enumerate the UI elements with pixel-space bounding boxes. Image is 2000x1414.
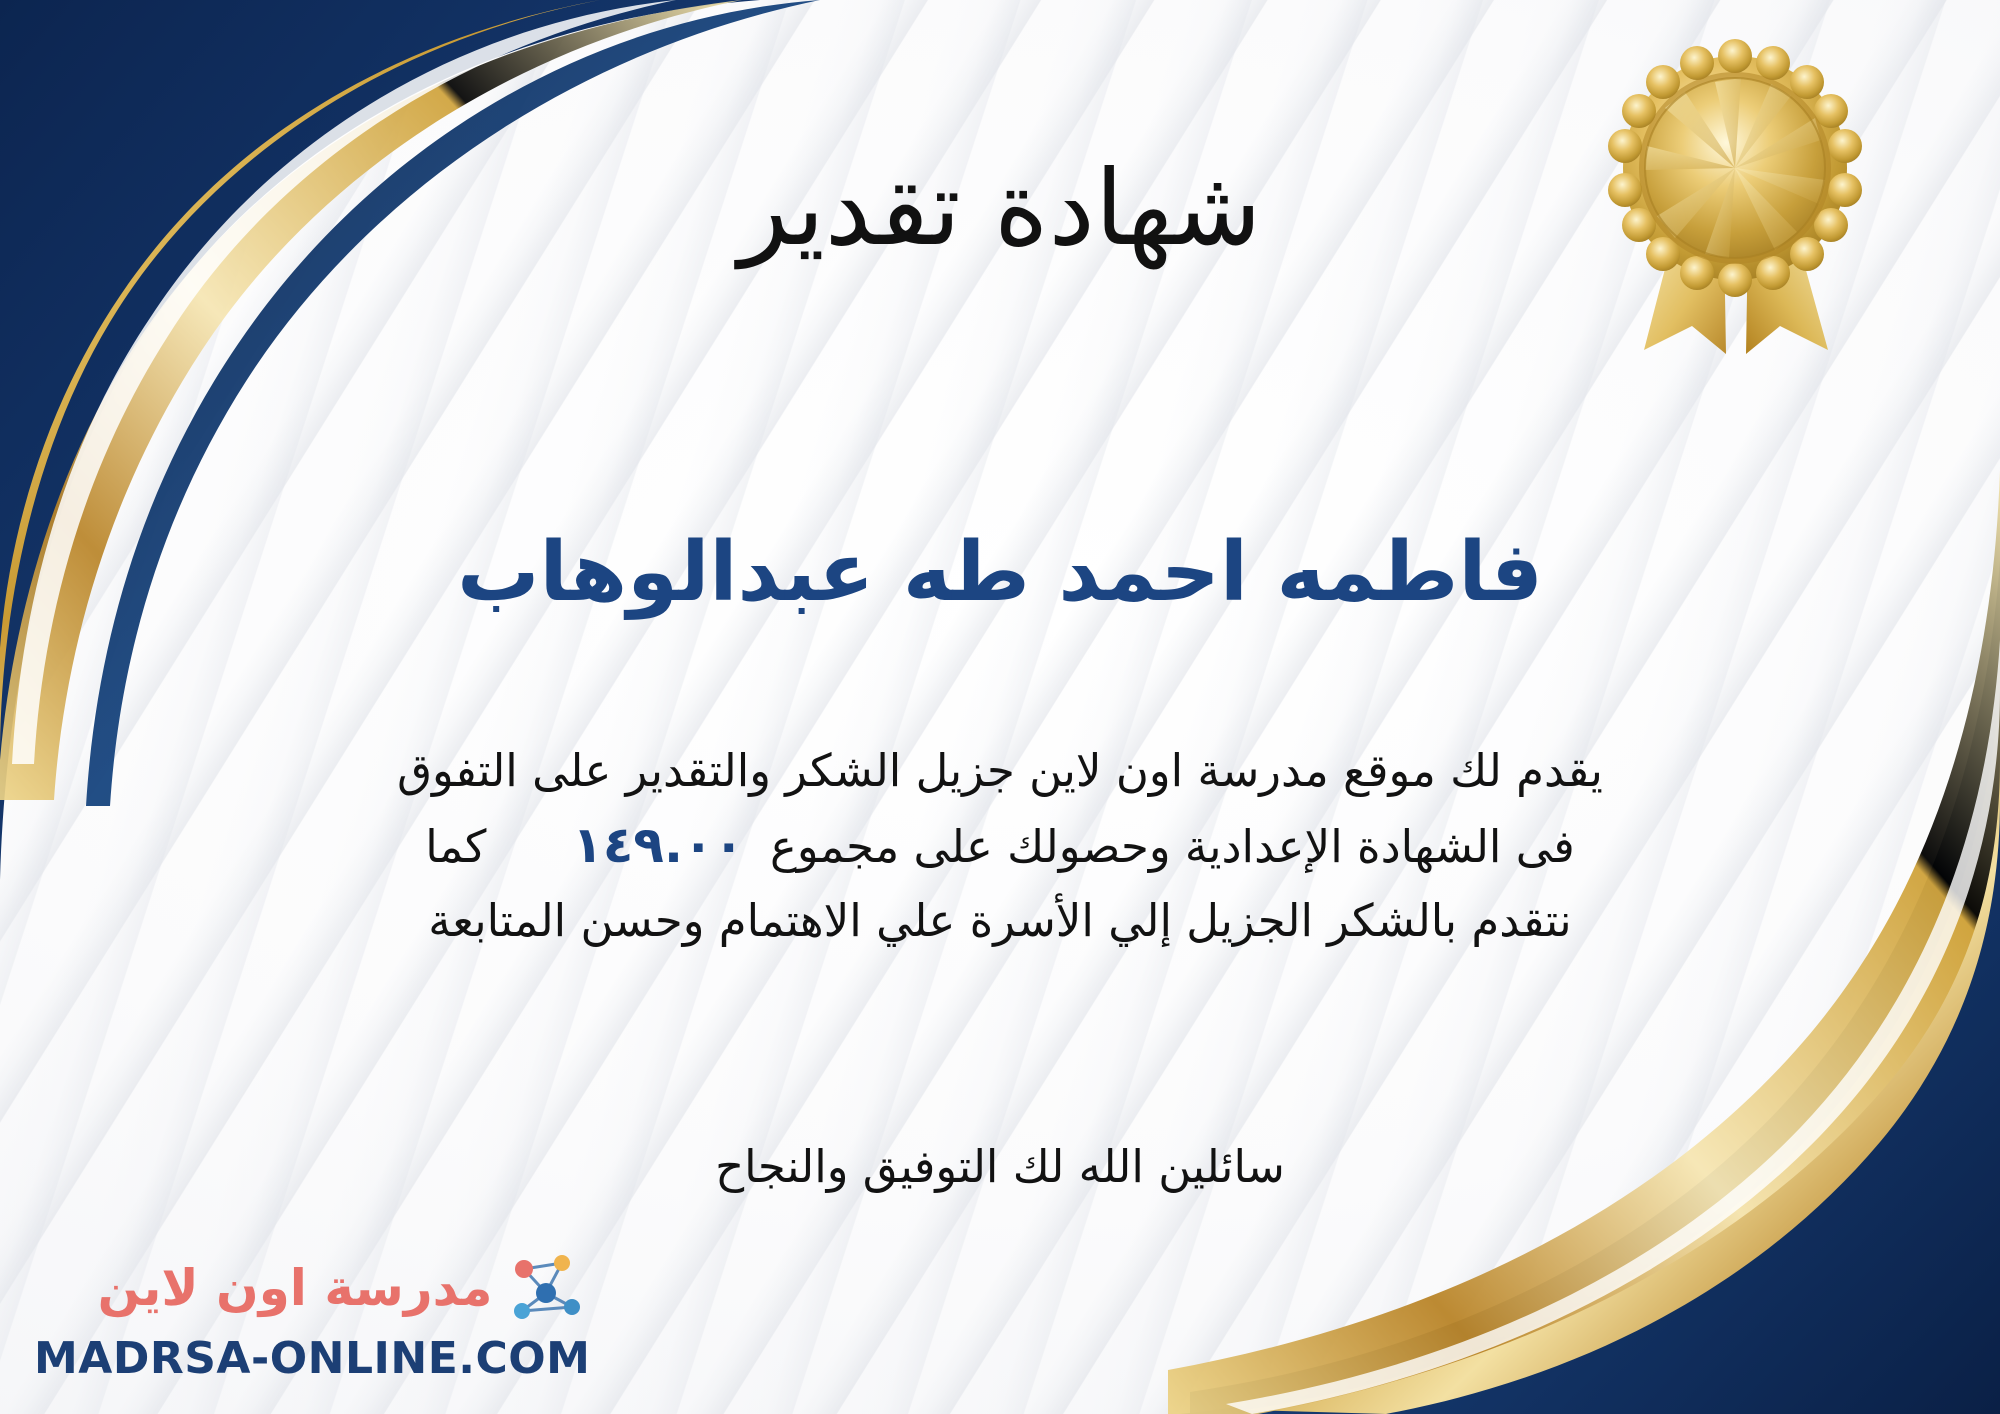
body-line-3: نتقدم بالشكر الجزيل إلي الأسرة علي الاهت… <box>40 885 1960 956</box>
body-line-2-suffix: كما <box>425 820 486 873</box>
brand-website-url[interactable]: MADRSA-ONLINE.COM <box>34 1333 590 1386</box>
body-paragraph: يقدم لك موقع مدرسة اون لاين جزيل الشكر و… <box>40 735 1960 956</box>
brand-logo[interactable]: مدرسة اون لاين <box>34 1249 590 1386</box>
network-nodes-icon <box>502 1249 590 1327</box>
body-line-2: فى الشهادة الإعدادية وحصولك على مجموع١٤٩… <box>40 806 1960 885</box>
total-score-value: ١٤٩.٠٠ <box>546 816 770 874</box>
body-line-2-prefix: فى الشهادة الإعدادية وحصولك على مجموع <box>770 820 1575 873</box>
brand-logo-row: مدرسة اون لاين <box>98 1249 591 1327</box>
gold-award-seal <box>1600 38 1870 368</box>
closing-wish: سائلين الله لك التوفيق والنجاح <box>0 1135 2000 1198</box>
certificate-page: شهادة تقدير فاطمه احمد طه عبدالوهاب يقدم… <box>0 0 2000 1414</box>
recipient-name: فاطمه احمد طه عبدالوهاب <box>0 525 2000 622</box>
brand-name-arabic: مدرسة اون لاين <box>98 1263 493 1313</box>
body-line-1: يقدم لك موقع مدرسة اون لاين جزيل الشكر و… <box>40 735 1960 806</box>
